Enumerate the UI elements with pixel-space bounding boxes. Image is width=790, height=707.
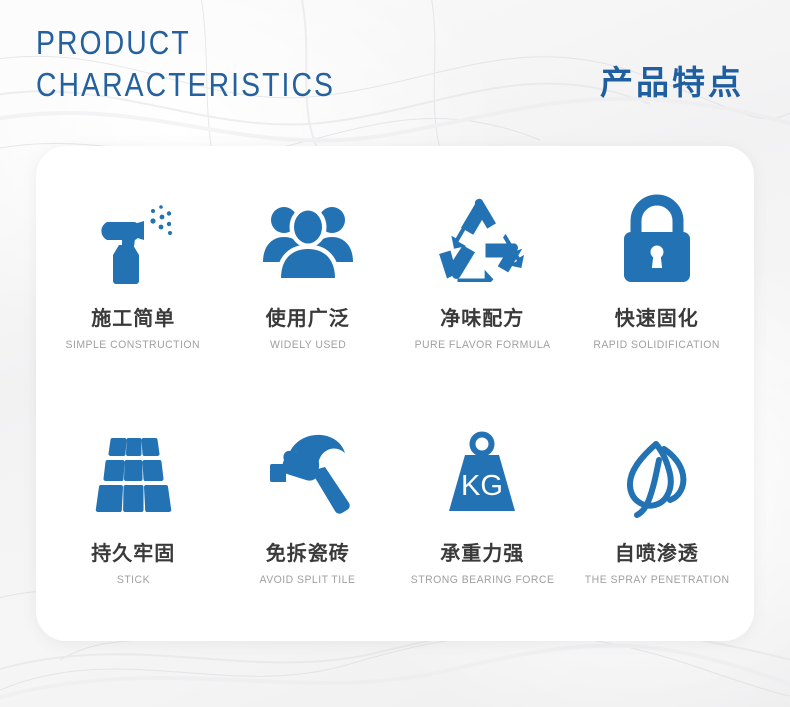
product-characteristics-page: PRODUCT CHARACTERISTICS 产品特点 <box>0 0 790 707</box>
feature-label-english: SIMPLE CONSTRUCTION <box>66 338 200 352</box>
feature-label-chinese: 净味配方 <box>440 306 524 330</box>
feature-label-chinese: 施工简单 <box>91 306 175 330</box>
kg-weight-icon-text: KG <box>461 470 503 502</box>
kg-weight-icon: KG <box>430 423 534 527</box>
feature-item-avoid-split-tile[interactable]: 免拆瓷砖 AVOID SPLIT TILE <box>221 393 396 634</box>
feature-label-chinese: 持久牢固 <box>91 541 175 565</box>
features-grid: 施工简单 SIMPLE CONSTRUCTION <box>36 146 754 641</box>
feature-label-chinese: 免拆瓷砖 <box>266 541 350 565</box>
page-header: PRODUCT CHARACTERISTICS 产品特点 <box>0 0 790 146</box>
features-card: 施工简单 SIMPLE CONSTRUCTION <box>36 146 754 641</box>
spray-bottle-icon <box>81 188 185 292</box>
page-title-chinese: 产品特点 <box>600 63 744 103</box>
feature-item-stick[interactable]: 持久牢固 STICK <box>46 393 221 634</box>
feature-label-chinese: 快速固化 <box>615 306 699 330</box>
feature-item-spray-penetration[interactable]: 自喷渗透 THE SPRAY PENETRATION <box>570 393 745 634</box>
feature-label-english: THE SPRAY PENETRATION <box>584 573 729 587</box>
feature-label-chinese: 承重力强 <box>440 541 524 565</box>
people-group-icon <box>256 188 360 292</box>
feature-label-chinese: 自喷渗透 <box>615 541 699 565</box>
feature-label-chinese: 使用广泛 <box>266 306 350 330</box>
hammer-icon <box>256 423 360 527</box>
tile-grid-icon <box>81 423 185 527</box>
feature-label-english: RAPID SOLIDIFICATION <box>593 338 720 352</box>
recycle-icon <box>430 188 534 292</box>
leaf-icon <box>605 423 709 527</box>
feature-item-strong-bearing-force[interactable]: KG 承重力强 STRONG BEARING FORCE <box>395 393 570 634</box>
feature-label-english: PURE FLAVOR FORMULA <box>414 338 550 352</box>
feature-label-english: STICK <box>117 573 150 587</box>
feature-item-simple-construction[interactable]: 施工简单 SIMPLE CONSTRUCTION <box>46 152 221 393</box>
feature-label-english: AVOID SPLIT TILE <box>260 573 356 587</box>
feature-label-english: STRONG BEARING FORCE <box>410 573 554 587</box>
feature-item-pure-flavor-formula[interactable]: 净味配方 PURE FLAVOR FORMULA <box>395 152 570 393</box>
padlock-icon <box>605 188 709 292</box>
page-title-english: PRODUCT CHARACTERISTICS <box>36 22 335 106</box>
feature-item-widely-used[interactable]: 使用广泛 WIDELY USED <box>221 152 396 393</box>
feature-item-rapid-solidification[interactable]: 快速固化 RAPID SOLIDIFICATION <box>570 152 745 393</box>
feature-label-english: WIDELY USED <box>270 338 346 352</box>
